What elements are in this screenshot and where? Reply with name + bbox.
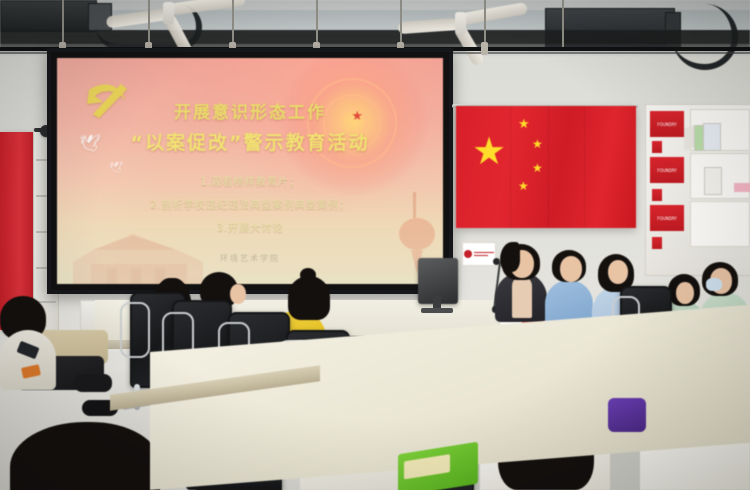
shelf-book-2 (703, 123, 721, 151)
hvac-duct-left (0, 0, 97, 32)
shelf-pink-label (734, 183, 750, 192)
projector-screen: ★ 🕊 🕊 (47, 48, 453, 294)
purple-bag (608, 398, 646, 432)
slide-bullet-1: 1.观看榜样教育片； (57, 174, 443, 189)
slide-bullet-3: 3.开展大讨论 (57, 220, 443, 235)
red-institution-sign (462, 242, 496, 266)
flag-small-star-2-icon: ★ (532, 138, 543, 150)
slide-bullet-list: 1.观看榜样教育片； 2.剖析学校违纪违法典型案例典型案例； 3.开展大讨论 (57, 166, 443, 243)
chinese-national-flag: ★ ★ ★ ★ ★ (456, 106, 636, 228)
shelf-label-1: FOUNDRY (650, 111, 684, 137)
shelf-label-2: FOUNDRY (650, 157, 684, 183)
flag-small-star-4-icon: ★ (518, 180, 529, 192)
slide-subtitle: “以案促改”警示教育活动 (57, 128, 443, 155)
shelf-label-3: FOUNDRY (650, 205, 684, 231)
slide-bullet-2: 2.剖析学校违纪违法典型案例典型案例； (57, 197, 443, 212)
face-mask (706, 278, 722, 291)
ceiling-fan-right (400, 12, 520, 42)
flag-big-star-icon: ★ (472, 132, 506, 170)
slide-footer: 环境艺术学院 (57, 253, 443, 264)
flag-small-star-1-icon: ★ (518, 118, 530, 131)
slide-title: 开展意识形态工作 (57, 98, 443, 123)
classroom-meeting-photo: ★ 🕊 🕊 (0, 0, 750, 490)
shelf-book-3 (704, 167, 722, 195)
flag-small-star-3-icon: ★ (532, 162, 543, 174)
ceiling-fan-left (108, 2, 228, 32)
right-bookshelf: FOUNDRY FOUNDRY FOUNDRY (645, 104, 750, 276)
